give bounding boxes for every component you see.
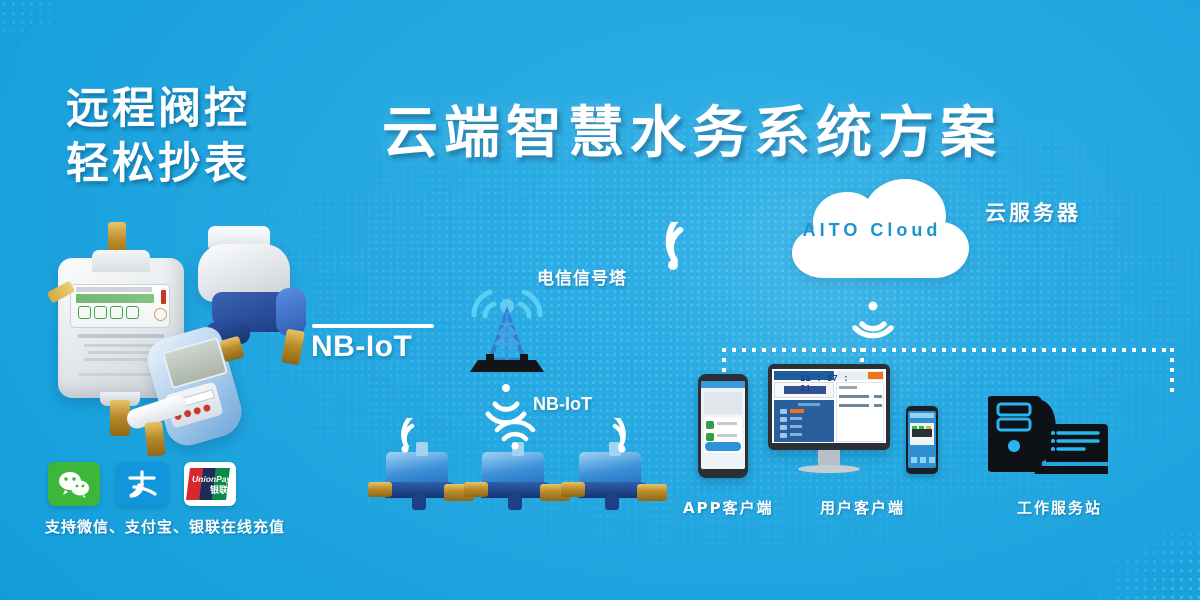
connector-line-horizontal [722,348,1174,352]
wechat-pay-icon[interactable] [48,462,100,506]
cloud-label: AITO Cloud [762,220,982,241]
svg-text:银联: 银联 [210,484,229,496]
smart-water-meter-icon [565,452,669,522]
cloud-server-group: AITO Cloud [762,168,982,288]
payment-caption: 支持微信、支付宝、银联在线充值 [30,516,300,537]
tower-label: 电信信号塔 [537,264,627,289]
nbiot-label-large: NB-IoT [311,330,412,364]
smart-water-meter-icon [468,452,572,522]
left-headline-line1: 远程阀控 [66,82,250,137]
wifi-signal-icon-meter2 [492,416,538,450]
unionpay-icon[interactable]: UnionPay 银联 [184,462,236,506]
wifi-signal-icon-downlink [846,298,900,344]
payment-icons-row: UnionPay 银联 [48,462,236,506]
smart-water-meter-icon [372,452,476,522]
workstation-icon [988,388,1108,480]
page-title: 云端智慧水务系统方案 [382,88,1002,169]
monitor-clock: 11 : 57 : 21 [800,374,860,394]
desktop-monitor-icon: 11 : 57 : 21 [768,364,890,482]
promo-banner: 远程阀控 轻松抄表 云端智慧水务系统方案 AITO Cloud 云服务器 [0,0,1200,600]
client-label-user: 用户客户端 [820,497,905,518]
left-headline: 远程阀控 轻松抄表 [66,82,250,192]
connector-line-to-workstation [1170,348,1174,394]
wifi-signal-icon-meter1 [396,418,438,454]
smartphone-icon [698,374,748,478]
nbiot-label-small: NB-IoT [533,394,592,415]
client-label-app: APP客户端 [683,497,774,518]
cloud-server-label: 云服务器 [985,197,1081,227]
client-label-workstation: 工作服务站 [1017,497,1102,518]
mini-smartphone-icon [906,406,938,474]
wifi-signal-icon-to-cloud [660,222,718,272]
svg-text:UnionPay: UnionPay [192,474,232,484]
wifi-signal-icon-meter3 [589,418,631,454]
nbiot-underline [312,324,434,328]
left-headline-line2: 轻松抄表 [66,137,250,192]
product-photo-lcd-meter [138,330,278,460]
alipay-icon[interactable] [116,462,168,506]
